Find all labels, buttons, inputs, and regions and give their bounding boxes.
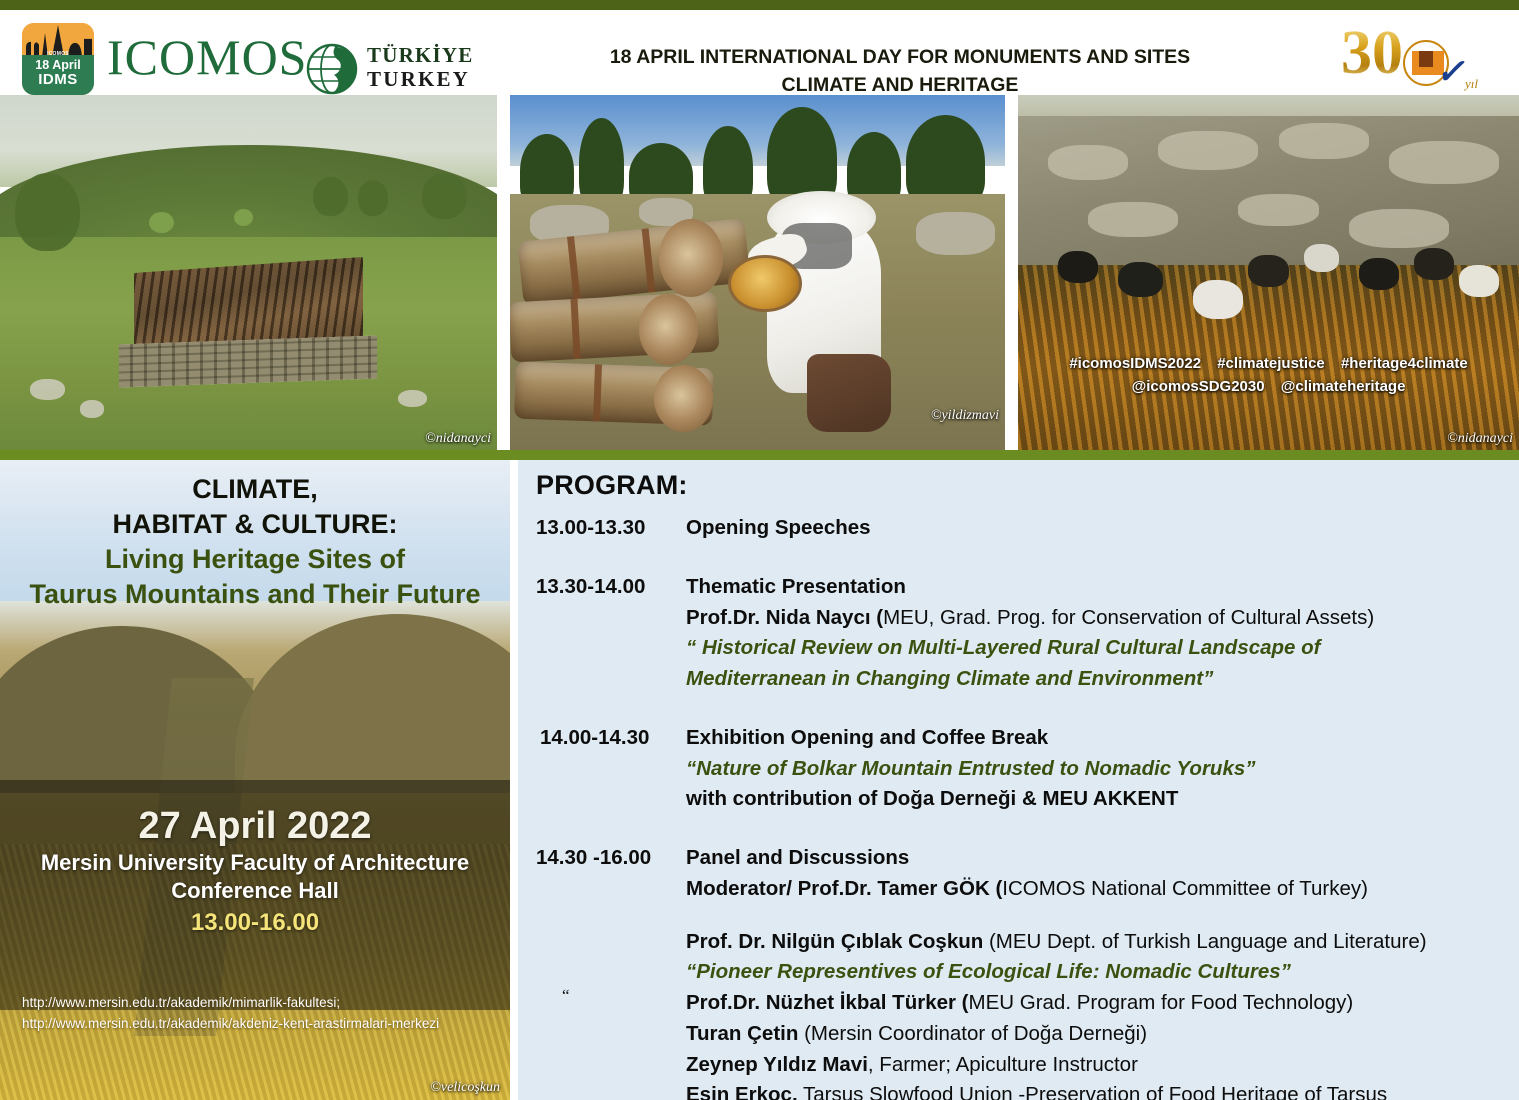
program-item: 14.30 -16.00 Panel and Discussions Moder… xyxy=(536,843,1519,905)
panelist-affiliation: MEU Grad. Program for Food Technology) xyxy=(969,991,1354,1014)
hashtag-row-1: #icomosIDMS2022 #climatejustice #heritag… xyxy=(1018,353,1519,376)
photo2-rock xyxy=(916,212,995,255)
program-item: 13.00-13.30 Opening Speeches xyxy=(536,513,1519,544)
program-item-time: 14.00-14.30 xyxy=(536,723,686,815)
program-line: Exhibition Opening and Coffee Break xyxy=(686,723,1519,754)
program-line: Prof.Dr. Nida Naycı (MEU, Grad. Prog. fo… xyxy=(686,603,1519,634)
photo3-goat xyxy=(1304,244,1339,272)
panelist-row: Zeynep Yıldız Mavi, Farmer; Apiculture I… xyxy=(686,1050,1519,1081)
handle-climateheritage: @climateheritage xyxy=(1281,378,1406,395)
icomos-wordmark: ICOMOS xyxy=(107,32,307,82)
panelist-affiliation: (Mersin Coordinator of Doğa Derneği) xyxy=(804,1022,1147,1045)
photo1-rock xyxy=(30,379,65,400)
stray-quote-mark: “ xyxy=(562,983,570,1009)
program-contribution: with contribution of Doğa Derneği & MEU … xyxy=(686,784,1519,815)
photo3-goat xyxy=(1118,262,1163,298)
program-item-time: 13.30-14.00 xyxy=(536,572,686,695)
photo3-goat xyxy=(1058,251,1098,283)
event-title: CLIMATE, HABITAT & CULTURE: Living Herit… xyxy=(0,472,510,612)
handle-icomos-sdg2030: @icomosSDG2030 xyxy=(1132,378,1265,395)
event-info-panel: CLIMATE, HABITAT & CULTURE: Living Herit… xyxy=(0,460,510,1100)
photo3-credit: ©nidanayci xyxy=(1447,431,1513,447)
link-akdeniz-kent-merkezi[interactable]: http://www.mersin.edu.tr/akademik/akdeni… xyxy=(22,1014,439,1035)
hashtag-overlay: #icomosIDMS2022 #climatejustice #heritag… xyxy=(1018,353,1519,398)
program-speaker-affiliation: MEU, Grad. Prog. for Conservation of Cul… xyxy=(883,606,1374,629)
photo2-honeycomb xyxy=(728,255,802,312)
idms-logo: ICOMOS 18 April IDMS xyxy=(22,23,94,95)
photo2-log-band xyxy=(567,236,581,300)
photo-stone-hut-meadow: ©nidanayci xyxy=(0,95,497,450)
event-subtitle-line2: Taurus Mountains and Their Future xyxy=(0,577,510,612)
photo1-credit: ©nidanayci xyxy=(425,431,491,447)
photo3-rock xyxy=(1088,202,1178,238)
panelist-row: Prof. Dr. Nilgün Çıblak Coşkun (MEU Dept… xyxy=(686,927,1519,958)
photo-strip: ©nidanayci xyxy=(0,95,1519,450)
anniversary-seal-core xyxy=(1419,51,1433,67)
panelist-affiliation: Tarsus Slowfood Union -Preservation of F… xyxy=(798,1083,1388,1100)
photo3-rock xyxy=(1389,141,1499,184)
anniversary-swoosh-icon: ✓ xyxy=(1436,56,1465,90)
page-title-line1: 18 APRIL INTERNATIONAL DAY FOR MONUMENTS… xyxy=(520,44,1280,72)
program-item: 13.30-14.00 Thematic Presentation Prof.D… xyxy=(536,572,1519,695)
photo3-rock xyxy=(1238,194,1318,226)
program-item-body: Panel and Discussions Moderator/ Prof.Dr… xyxy=(686,843,1519,905)
spacer xyxy=(536,911,1519,927)
photo2-credit: ©yildizmavi xyxy=(931,408,999,424)
spacer xyxy=(536,550,1519,572)
photo2-beekeeper-leg xyxy=(807,354,891,432)
section-divider xyxy=(0,450,1519,460)
program-line: Moderator/ Prof.Dr. Tamer GÖK (ICOMOS Na… xyxy=(686,874,1519,905)
program-panelist-list: “ Prof. Dr. Nilgün Çıblak Coşkun (MEU De… xyxy=(686,927,1519,1100)
photo3-rock xyxy=(1158,131,1258,170)
link-mimarlik-fakultesi[interactable]: http://www.mersin.edu.tr/akademik/mimarl… xyxy=(22,993,439,1014)
hashtag-icomos-idms: #icomosIDMS2022 xyxy=(1069,355,1201,372)
hashtag-heritage4climate: #heritage4climate xyxy=(1341,355,1468,372)
panelist-name: Prof.Dr. Nüzhet İkbal Türker ( xyxy=(686,991,969,1014)
program-item: 14.00-14.30 Exhibition Opening and Coffe… xyxy=(536,723,1519,815)
program-line: Opening Speeches xyxy=(686,513,1519,544)
photo2-log-band xyxy=(593,364,602,421)
hashtag-climatejustice: #climatejustice xyxy=(1217,355,1325,372)
event-hours: 13.00-16.00 xyxy=(0,906,510,940)
program-panel: PROGRAM: 13.00-13.30 Opening Speeches 13… xyxy=(518,460,1519,1100)
program-moderator-name: Moderator/ Prof.Dr. Tamer GÖK ( xyxy=(686,877,1002,900)
photo-rocky-slope-goats: #icomosIDMS2022 #climatejustice #heritag… xyxy=(1018,95,1519,450)
photo2-log-end xyxy=(659,219,723,297)
event-title-line2: HABITAT & CULTURE: xyxy=(0,507,510,542)
photo3-rock xyxy=(1349,209,1449,248)
photo3-rock xyxy=(1279,123,1369,159)
photo1-rock xyxy=(398,390,428,408)
photo3-goat xyxy=(1193,280,1243,319)
program-exhibition-title: “Nature of Bolkar Mountain Entrusted to … xyxy=(686,754,1519,785)
photo1-tree xyxy=(15,173,80,251)
photo2-treeline xyxy=(510,102,1005,209)
turkiye-turkey-wordmark: TÜRKİYE TURKEY xyxy=(367,44,473,91)
event-title-line1: CLIMATE, xyxy=(0,472,510,507)
panelist-affiliation: , Farmer; Apiculture Instructor xyxy=(868,1053,1138,1076)
photo2-log-end xyxy=(639,294,698,365)
event-details: 27 April 2022 Mersin University Faculty … xyxy=(0,805,510,939)
turkiye-label: TÜRKİYE xyxy=(367,44,473,68)
program-moderator-affiliation: ICOMOS National Committee of Turkey) xyxy=(1002,877,1368,900)
photo1-stone-wall xyxy=(119,335,377,387)
turkey-label: TURKEY xyxy=(367,68,473,92)
panelist-name: Turan Çetin xyxy=(686,1022,804,1045)
photo3-goat xyxy=(1459,265,1499,297)
panelist-name: Zeynep Yıldız Mavi xyxy=(686,1053,868,1076)
panelist-name: Prof. Dr. Nilgün Çıblak Coşkun xyxy=(686,930,989,953)
program-talk-title-line2: Mediterranean in Changing Climate and En… xyxy=(686,664,1519,695)
anniversary-number: 30 xyxy=(1341,22,1403,84)
photo2-log-band xyxy=(571,299,581,360)
page-title: 18 APRIL INTERNATIONAL DAY FOR MONUMENTS… xyxy=(520,44,1280,99)
event-venue-line1: Mersin University Faculty of Architectur… xyxy=(0,849,510,878)
anniversary-word: yıl xyxy=(1465,76,1478,92)
panelist-affiliation: (MEU Dept. of Turkish Language and Liter… xyxy=(989,930,1427,953)
panelist-row: Prof.Dr. Nüzhet İkbal Türker (MEU Grad. … xyxy=(686,988,1519,1019)
idms-logo-abbr: IDMS xyxy=(22,72,94,87)
poster-root: ICOMOS 18 April IDMS ICOMOS TÜRKİYE TURK… xyxy=(0,0,1519,1100)
program-item-time: 13.00-13.30 xyxy=(536,513,686,544)
program-item-body: Thematic Presentation Prof.Dr. Nida Nayc… xyxy=(686,572,1519,695)
photo1-rock xyxy=(80,400,105,418)
photo1-tree xyxy=(313,177,348,216)
program-speaker-name: Prof.Dr. Nida Naycı ( xyxy=(686,606,883,629)
photo2-log-end xyxy=(654,365,713,432)
photo-beekeeper-log-hives: ©yildizmavi xyxy=(510,95,1005,450)
anniversary-logo: 30 ✓ yıl xyxy=(1341,26,1501,98)
hashtag-row-2: @icomosSDG2030 @climateheritage xyxy=(1018,376,1519,399)
event-venue-line2: Conference Hall xyxy=(0,877,510,906)
poster-header: ICOMOS 18 April IDMS ICOMOS TÜRKİYE TURK… xyxy=(0,10,1519,95)
globe-icon xyxy=(305,42,359,96)
program-item-time: 14.30 -16.00 xyxy=(536,843,686,905)
spacer xyxy=(536,701,1519,723)
panelist-talk-title: “Pioneer Representives of Ecological Lif… xyxy=(686,957,1519,988)
program-item-body: Opening Speeches xyxy=(686,513,1519,544)
program-item-body: Exhibition Opening and Coffee Break “Nat… xyxy=(686,723,1519,815)
photo3-rock xyxy=(1048,145,1128,181)
event-links: http://www.mersin.edu.tr/akademik/mimarl… xyxy=(22,993,439,1035)
photo3-goat xyxy=(1248,255,1288,287)
event-date: 27 April 2022 xyxy=(0,805,510,849)
spacer xyxy=(536,821,1519,843)
program-line: Panel and Discussions xyxy=(686,843,1519,874)
program-talk-title-line1: “ Historical Review on Multi-Layered Rur… xyxy=(686,633,1519,664)
photo2-log-band xyxy=(642,228,656,292)
panelist-name: Esin Erkoç, xyxy=(686,1083,798,1100)
panelist-row: Esin Erkoç, Tarsus Slowfood Union -Prese… xyxy=(686,1080,1519,1100)
idms-logo-org: ICOMOS xyxy=(22,52,94,57)
event-subtitle-line1: Living Heritage Sites of xyxy=(0,542,510,577)
photo1-tree xyxy=(422,173,467,219)
photo1-tree xyxy=(358,180,388,216)
panelist-row: Turan Çetin (Mersin Coordinator of Doğa … xyxy=(686,1019,1519,1050)
top-rule-divider xyxy=(0,0,1519,10)
photo3-goat xyxy=(1414,248,1454,280)
program-heading: PROGRAM: xyxy=(536,470,1519,501)
idms-logo-date: 18 April xyxy=(22,59,94,72)
program-line: Thematic Presentation xyxy=(686,572,1519,603)
photo3-goat xyxy=(1359,258,1399,290)
left-panel-credit: ©velicoşkun xyxy=(430,1080,500,1096)
